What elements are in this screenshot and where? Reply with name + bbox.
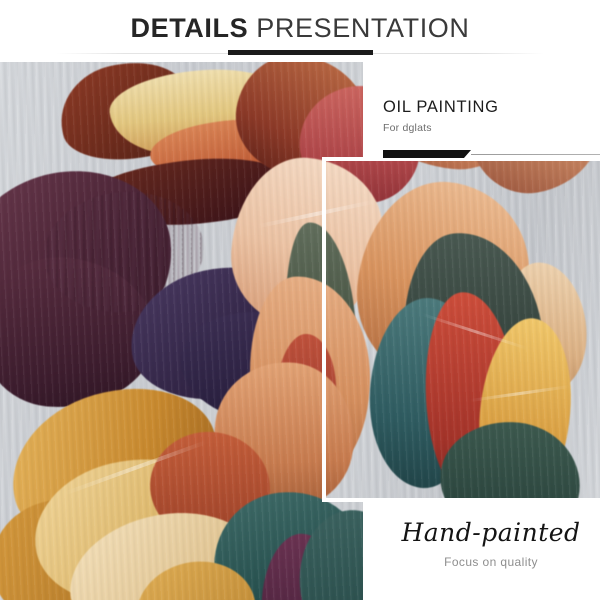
hand-painted-subtitle: Focus on quality xyxy=(391,555,591,569)
oil-painting-rule xyxy=(471,154,600,155)
oil-painting-subtitle: For dglats xyxy=(383,122,499,134)
page-title: DETAILS PRESENTATION xyxy=(0,13,600,44)
page-title-bold: DETAILS xyxy=(130,13,248,43)
details-presentation-page: DETAILS PRESENTATION OIL PAINTING For dg… xyxy=(0,0,600,600)
page-header: DETAILS PRESENTATION xyxy=(0,0,600,62)
page-title-light: PRESENTATION xyxy=(248,13,469,43)
header-rule-thick xyxy=(228,50,373,55)
hand-painted-callout: Hand-painted Focus on quality xyxy=(391,518,591,569)
oil-painting-accent-bar xyxy=(383,150,471,158)
oil-painting-callout: OIL PAINTING For dglats xyxy=(383,98,499,134)
hand-painted-title: Hand-painted xyxy=(391,518,591,547)
oil-painting-title: OIL PAINTING xyxy=(383,98,499,117)
